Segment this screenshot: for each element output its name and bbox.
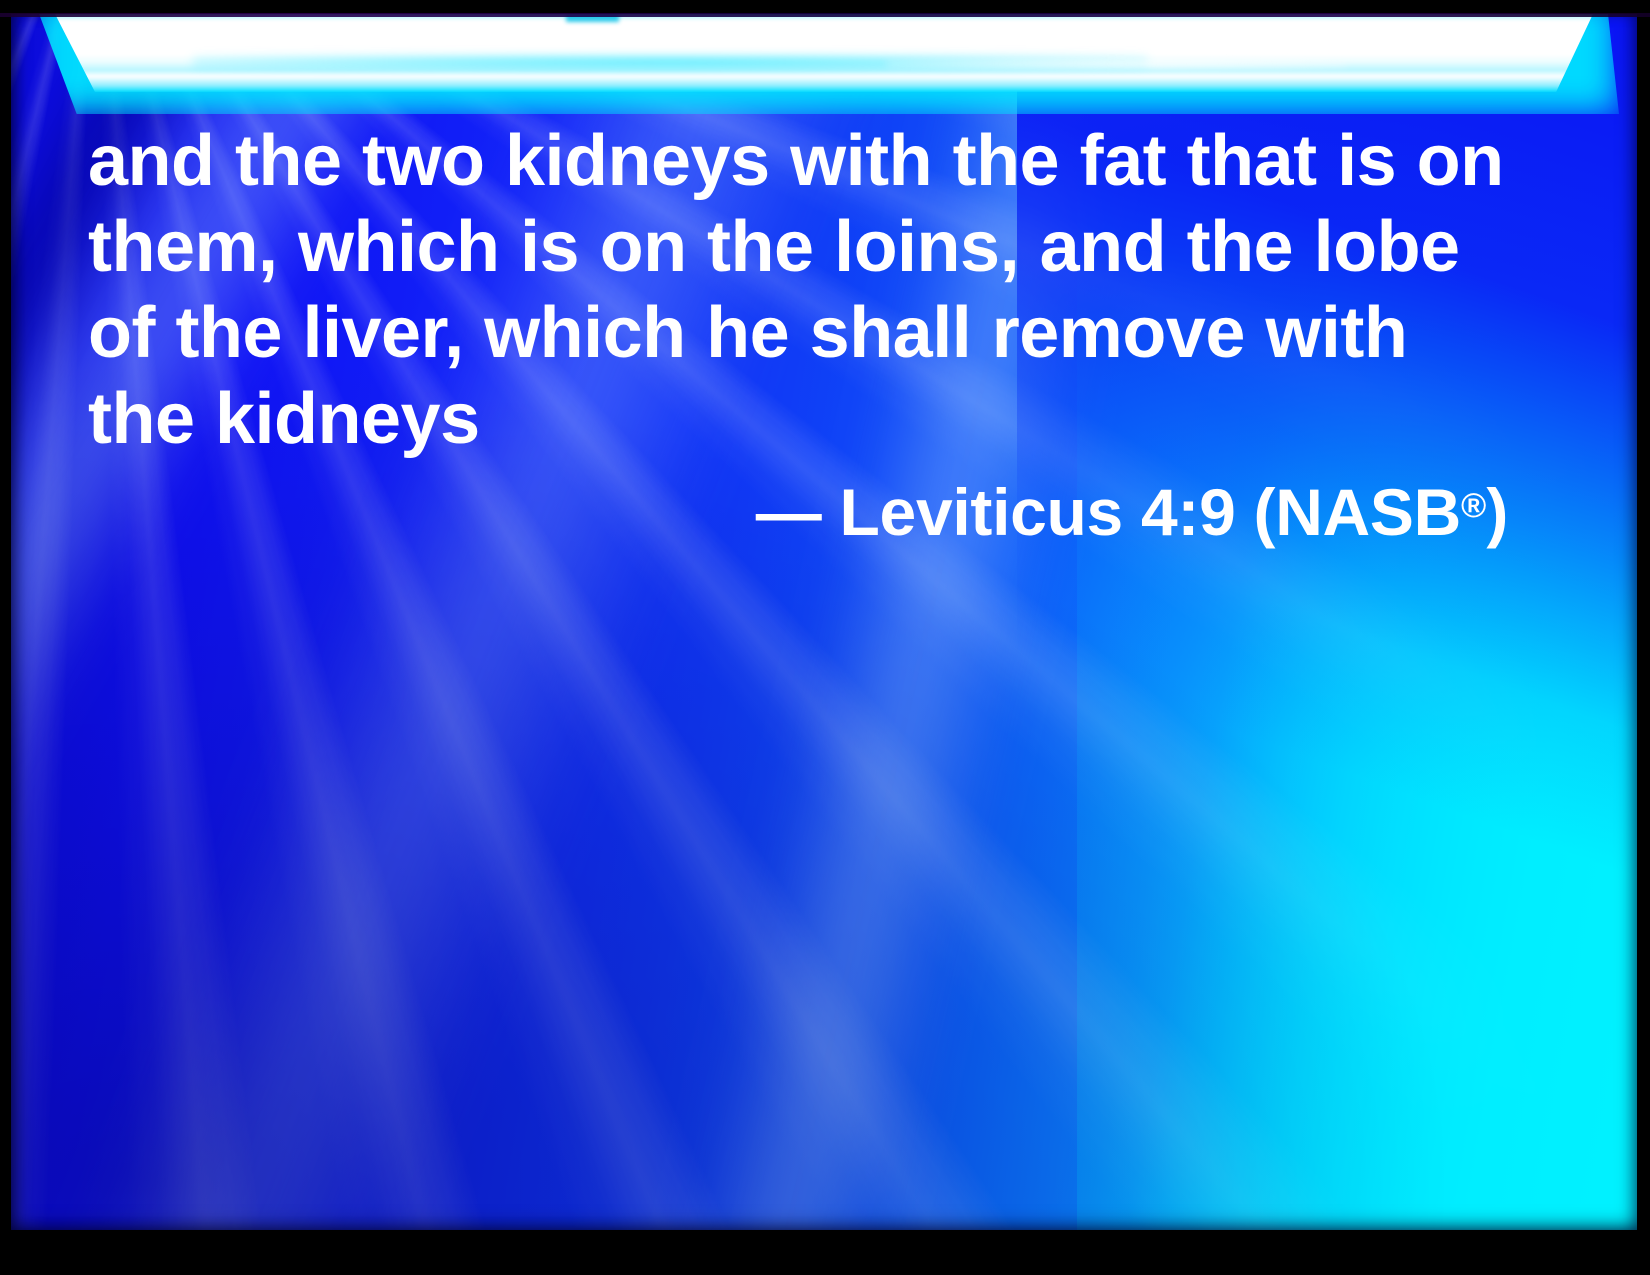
attribution-close-paren: ) — [1486, 475, 1508, 549]
verse-text: and the two kidneys with the fat that is… — [88, 118, 1508, 462]
attribution-reference: Leviticus 4:9 (NASB — [840, 475, 1461, 549]
attribution-em-dash: — — [756, 475, 822, 549]
text-layer: and the two kidneys with the fat that is… — [11, 14, 1637, 1230]
frame-top-border — [0, 0, 1650, 14]
slide-background: and the two kidneys with the fat that is… — [11, 14, 1637, 1230]
frame-left-border — [0, 0, 11, 1275]
frame-right-border — [1637, 0, 1650, 1275]
frame-top-hairline — [0, 13, 1650, 17]
verse-attribution: — Leviticus 4:9 (NASB®) — [88, 466, 1528, 552]
registered-trademark-icon: ® — [1461, 487, 1486, 525]
frame-bottom-border — [0, 1230, 1650, 1275]
slide-canvas: and the two kidneys with the fat that is… — [0, 0, 1650, 1275]
